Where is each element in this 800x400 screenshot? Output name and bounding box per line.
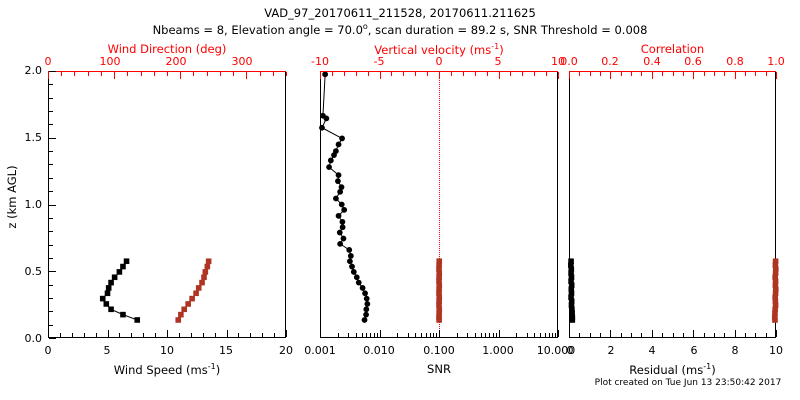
data-point-marker (323, 72, 328, 77)
axis-tick-mark (154, 72, 155, 76)
data-point-marker (106, 286, 111, 291)
axis-tick-mark (380, 72, 381, 79)
axis-tick-mark (499, 330, 500, 337)
axis-tick-mark (527, 333, 528, 337)
subtitle-part-1: Nbeams = 8, Elevation angle = 70.0 (153, 23, 363, 37)
axis-tick-mark (463, 72, 464, 76)
axis-tick-mark (262, 333, 263, 337)
data-point-marker (347, 259, 352, 264)
axis-tick-mark (755, 72, 756, 76)
residual-tick-2: 2 (596, 344, 626, 357)
data-point-marker (364, 307, 369, 312)
axis-tick-mark (250, 333, 251, 337)
axis-tick-mark (776, 72, 777, 79)
axis-tick-mark (88, 72, 89, 76)
windspeed-label-base: Wind Speed (ms (114, 363, 208, 377)
data-point-marker (348, 254, 353, 259)
axis-tick-mark (415, 333, 416, 337)
data-point-marker (342, 207, 347, 212)
axis-tick-mark (487, 72, 488, 76)
data-point-marker (190, 296, 195, 301)
data-point-marker (437, 318, 442, 323)
axis-tick-mark (49, 338, 56, 339)
axis-tick-mark (180, 72, 181, 79)
correlation-tick-0.2: 0.2 (593, 55, 627, 68)
axis-tick-mark (155, 333, 156, 337)
axis-tick-mark (338, 333, 339, 337)
axis-tick-mark (683, 72, 684, 76)
axis-tick-mark (320, 72, 321, 79)
axis-tick-mark (408, 333, 409, 337)
axis-tick-mark (693, 72, 694, 79)
axis-tick-mark (493, 333, 494, 337)
axis-tick-mark (641, 333, 642, 337)
axis-tick-mark (662, 333, 663, 337)
axis-tick-mark (610, 72, 611, 79)
data-point-marker (200, 280, 205, 285)
axis-tick-mark (84, 333, 85, 337)
data-point-marker (364, 296, 369, 301)
axis-tick-mark (48, 72, 49, 79)
data-point-marker (365, 302, 370, 307)
vertical-velocity-tick-neg5: -5 (362, 55, 396, 68)
axis-tick-mark (191, 333, 192, 337)
y-tick-label-0.5: 0.5 (8, 265, 42, 278)
data-point-marker (340, 219, 345, 224)
plot-created-footer: Plot created on Tue Jun 13 23:50:42 2017 (576, 378, 800, 388)
wind-speed-tick-5: 5 (92, 344, 122, 357)
axis-tick-mark (397, 333, 398, 337)
axis-tick-mark (621, 333, 622, 337)
axis-tick-mark (600, 333, 601, 337)
axis-tick-mark (49, 191, 53, 192)
axis-tick-mark (61, 72, 62, 76)
axis-tick-mark (380, 330, 381, 337)
data-point-marker (203, 270, 208, 275)
axis-tick-mark (344, 72, 345, 76)
data-point-marker (570, 318, 575, 323)
axis-tick-mark (143, 333, 144, 337)
panel-windspeed (48, 71, 286, 338)
wind-direction-tick-200: 200 (161, 55, 191, 68)
axis-tick-mark (714, 333, 715, 337)
y-axis-label: z (km AGL) (5, 157, 19, 237)
axis-tick-mark (735, 330, 736, 337)
data-point-marker (338, 241, 343, 246)
axis-tick-mark (49, 164, 53, 165)
data-point-marker (334, 196, 339, 201)
data-point-marker (336, 213, 341, 218)
axis-tick-mark (273, 72, 274, 76)
data-point-marker (339, 202, 344, 207)
axis-tick-mark (546, 72, 547, 76)
axis-tick-mark (621, 72, 622, 76)
vad-plot-figure: VAD_97_20170611_211528, 20170611.211625 … (0, 0, 800, 400)
vertical-velocity-tick-0: 0 (422, 55, 456, 68)
axis-tick-mark (74, 72, 75, 76)
axis-tick-mark (49, 71, 56, 72)
axis-tick-mark (545, 333, 546, 337)
panel-snr-plot (320, 71, 558, 338)
axis-tick-mark (362, 333, 363, 337)
axis-tick-mark (776, 330, 777, 337)
axis-tick-mark (457, 333, 458, 337)
data-point-marker (340, 225, 345, 230)
axis-tick-mark (534, 333, 535, 337)
data-point-marker (332, 153, 337, 158)
axis-tick-mark (49, 178, 53, 179)
axis-tick-mark (467, 333, 468, 337)
axis-tick-mark (745, 72, 746, 76)
data-point-marker (341, 236, 346, 241)
axis-tick-mark (475, 72, 476, 76)
axis-tick-mark (377, 333, 378, 337)
axis-tick-mark (516, 333, 517, 337)
axis-tick-mark (366, 333, 367, 337)
correlation-tick-0.0: 0.0 (552, 55, 586, 68)
axis-tick-mark (569, 72, 570, 79)
axis-tick-mark (227, 330, 228, 337)
data-point-marker (179, 312, 184, 317)
panel-windspeed-bottom-axis-label: Wind Speed (ms-1) (48, 362, 286, 377)
axis-tick-mark (49, 231, 53, 232)
axis-tick-mark (735, 72, 736, 79)
data-point-marker (124, 259, 129, 264)
axis-tick-mark (193, 72, 194, 76)
axis-tick-mark (101, 72, 102, 76)
axis-tick-mark (49, 245, 53, 246)
axis-tick-mark (600, 72, 601, 76)
data-point-marker (350, 264, 355, 269)
data-point-marker (206, 259, 211, 264)
wind-direction-tick-0: 0 (33, 55, 63, 68)
axis-tick-mark (540, 333, 541, 337)
data-point-marker (117, 270, 122, 275)
axis-tick-mark (127, 72, 128, 76)
data-point-marker (773, 318, 778, 323)
data-point-marker (135, 318, 140, 323)
axis-tick-mark (332, 72, 333, 76)
axis-tick-mark (590, 333, 591, 337)
snr-tick-0.100: 0.100 (416, 344, 462, 357)
windspeed-label-close: ) (216, 363, 221, 377)
axis-tick-mark (49, 298, 53, 299)
axis-tick-mark (356, 333, 357, 337)
data-point-marker (347, 247, 352, 252)
wind-direction-tick-300: 300 (227, 55, 257, 68)
axis-tick-mark (745, 333, 746, 337)
axis-tick-mark (510, 72, 511, 76)
axis-tick-mark (49, 325, 53, 326)
data-point-marker (196, 286, 201, 291)
data-point-marker (336, 179, 341, 184)
axis-tick-mark (590, 72, 591, 76)
axis-tick-mark (274, 333, 275, 337)
axis-tick-mark (72, 333, 73, 337)
residual-label-close: ) (711, 363, 716, 377)
axis-tick-mark (755, 333, 756, 337)
subtitle-part-2: , scan duration = 89.2 s, SNR Threshold … (368, 23, 648, 37)
data-point-marker (356, 280, 361, 285)
data-point-marker (109, 280, 114, 285)
data-point-marker (340, 136, 345, 141)
data-point-marker (320, 125, 325, 130)
panel-residual (569, 71, 776, 338)
axis-tick-mark (475, 333, 476, 337)
axis-tick-mark (203, 333, 204, 337)
axis-tick-mark (49, 218, 53, 219)
axis-tick-mark (683, 333, 684, 337)
axis-tick-mark (499, 72, 500, 79)
data-point-marker (104, 302, 109, 307)
snr-tick-1.000: 1.000 (475, 344, 521, 357)
axis-tick-mark (238, 333, 239, 337)
axis-tick-mark (49, 311, 53, 312)
data-point-marker (182, 307, 187, 312)
axis-tick-mark (704, 72, 705, 76)
data-point-marker (324, 116, 329, 121)
axis-tick-mark (233, 72, 234, 76)
axis-tick-mark (320, 330, 321, 337)
axis-tick-mark (348, 333, 349, 337)
vertical-velocity-tick-5: 5 (481, 55, 515, 68)
y-tick-label-1.5: 1.5 (8, 131, 42, 144)
data-point-marker (338, 189, 343, 194)
axis-tick-mark (356, 72, 357, 76)
axis-tick-mark (179, 333, 180, 337)
data-point-marker (337, 230, 342, 235)
axis-tick-mark (49, 285, 53, 286)
snr-tick-0.001: 0.001 (297, 344, 343, 357)
axis-tick-mark (558, 72, 559, 79)
axis-tick-mark (49, 138, 56, 139)
axis-tick-mark (421, 333, 422, 337)
axis-tick-mark (522, 72, 523, 76)
figure-title: VAD_97_20170611_211528, 20170611.211625 (0, 6, 800, 20)
axis-tick-mark (439, 72, 440, 79)
panel-residual-plot (569, 71, 776, 338)
data-point-marker (354, 275, 359, 280)
axis-tick-mark (439, 330, 440, 337)
wind-direction-tick-100: 100 (95, 55, 125, 68)
wind-speed-tick-10: 10 (152, 344, 182, 357)
y-tick-label-1.0: 1.0 (8, 198, 42, 211)
axis-tick-mark (49, 98, 53, 99)
residual-tick-10: 10 (761, 344, 791, 357)
residual-tick-4: 4 (637, 344, 667, 357)
data-point-marker (351, 270, 356, 275)
data-point-marker (336, 173, 341, 178)
data-point-marker (205, 264, 210, 269)
panel-windspeed-plot (48, 71, 286, 338)
axis-tick-mark (114, 72, 115, 79)
axis-tick-mark (652, 72, 653, 79)
axis-tick-mark (766, 72, 767, 76)
data-point-marker (328, 158, 333, 163)
data-point-marker (112, 275, 117, 280)
axis-tick-mark (549, 333, 550, 337)
axis-tick-mark (131, 333, 132, 337)
axis-tick-mark (631, 333, 632, 337)
axis-tick-mark (427, 72, 428, 76)
axis-tick-mark (426, 333, 427, 337)
residual-tick-8: 8 (720, 344, 750, 357)
figure-subtitle: Nbeams = 8, Elevation angle = 70.0o, sca… (0, 22, 800, 37)
axis-tick-mark (704, 333, 705, 337)
axis-tick-mark (286, 72, 287, 76)
axis-tick-mark (141, 72, 142, 76)
data-point-marker (121, 264, 126, 269)
axis-tick-mark (49, 151, 53, 152)
axis-tick-mark (415, 72, 416, 76)
panel-windspeed-top-axis-label: Wind Direction (deg) (48, 42, 286, 56)
axis-tick-mark (451, 72, 452, 76)
data-point-marker (202, 275, 207, 280)
panel-residual-top-axis-label: Correlation (569, 42, 776, 56)
axis-tick-mark (558, 330, 559, 337)
axis-tick-mark (662, 72, 663, 76)
axis-tick-mark (119, 333, 120, 337)
axis-tick-mark (49, 84, 53, 85)
axis-tick-mark (391, 72, 392, 76)
axis-tick-mark (260, 72, 261, 76)
data-point-marker (109, 307, 114, 312)
axis-tick-mark (49, 124, 53, 125)
residual-label-exponent: -1 (703, 362, 711, 371)
axis-tick-mark (724, 333, 725, 337)
panel-residual-bottom-axis-label: Residual (ms-1) (569, 362, 776, 377)
axis-tick-mark (714, 72, 715, 76)
axis-tick-mark (403, 72, 404, 76)
axis-tick-mark (430, 333, 431, 337)
vertical-velocity-tick-neg10: -10 (303, 55, 337, 68)
axis-tick-mark (534, 72, 535, 76)
data-point-marker (194, 291, 199, 296)
data-point-marker (363, 291, 368, 296)
residual-tick-0: 0 (555, 344, 585, 357)
axis-tick-mark (485, 333, 486, 337)
axis-tick-mark (436, 333, 437, 337)
axis-tick-mark (108, 330, 109, 337)
axis-tick-mark (555, 333, 556, 337)
correlation-tick-0.4: 0.4 (635, 55, 669, 68)
axis-tick-mark (433, 333, 434, 337)
axis-tick-mark (246, 72, 247, 79)
axis-tick-mark (370, 333, 371, 337)
axis-tick-mark (673, 333, 674, 337)
axis-tick-mark (766, 333, 767, 337)
wind-speed-tick-0: 0 (33, 344, 63, 357)
axis-tick-mark (60, 333, 61, 337)
data-point-marker (339, 185, 344, 190)
axis-tick-mark (693, 330, 694, 337)
data-point-marker (176, 318, 181, 323)
axis-tick-mark (49, 258, 53, 259)
axis-tick-mark (96, 333, 97, 337)
axis-tick-mark (724, 72, 725, 76)
axis-tick-mark (631, 72, 632, 76)
data-point-marker (364, 312, 369, 317)
correlation-tick-1.0: 1.0 (759, 55, 793, 68)
snr-tick-0.010: 0.010 (356, 344, 402, 357)
axis-tick-mark (569, 330, 570, 337)
correlation-tick-0.6: 0.6 (676, 55, 710, 68)
wind-speed-tick-15: 15 (211, 344, 241, 357)
axis-tick-mark (673, 72, 674, 76)
residual-label-base: Residual (ms (629, 363, 703, 377)
data-point-marker (362, 318, 367, 323)
axis-tick-mark (652, 330, 653, 337)
axis-tick-mark (49, 271, 56, 272)
axis-tick-mark (48, 330, 49, 337)
axis-tick-mark (552, 333, 553, 337)
axis-tick-mark (49, 111, 53, 112)
data-point-marker (360, 286, 365, 291)
axis-tick-mark (207, 72, 208, 76)
residual-tick-6: 6 (679, 344, 709, 357)
axis-tick-mark (481, 333, 482, 337)
axis-tick-mark (610, 330, 611, 337)
data-point-marker (105, 291, 110, 296)
axis-tick-mark (167, 72, 168, 76)
correlation-tick-0.8: 0.8 (718, 55, 752, 68)
data-point-marker (327, 165, 332, 170)
axis-tick-mark (49, 205, 56, 206)
axis-tick-mark (374, 333, 375, 337)
data-point-marker (100, 296, 105, 301)
axis-tick-mark (489, 333, 490, 337)
panel-snr (320, 71, 558, 338)
axis-tick-mark (286, 330, 287, 337)
axis-tick-mark (368, 72, 369, 76)
data-point-marker (186, 302, 191, 307)
axis-tick-mark (641, 72, 642, 76)
panel-snr-bottom-axis-label: SNR (320, 362, 558, 376)
windspeed-label-exponent: -1 (208, 362, 216, 371)
data-point-marker (336, 142, 341, 147)
axis-tick-mark (220, 72, 221, 76)
axis-tick-mark (579, 72, 580, 76)
axis-tick-mark (167, 330, 168, 337)
axis-tick-mark (496, 333, 497, 337)
data-point-marker (121, 312, 126, 317)
axis-tick-mark (215, 333, 216, 337)
axis-tick-mark (579, 333, 580, 337)
